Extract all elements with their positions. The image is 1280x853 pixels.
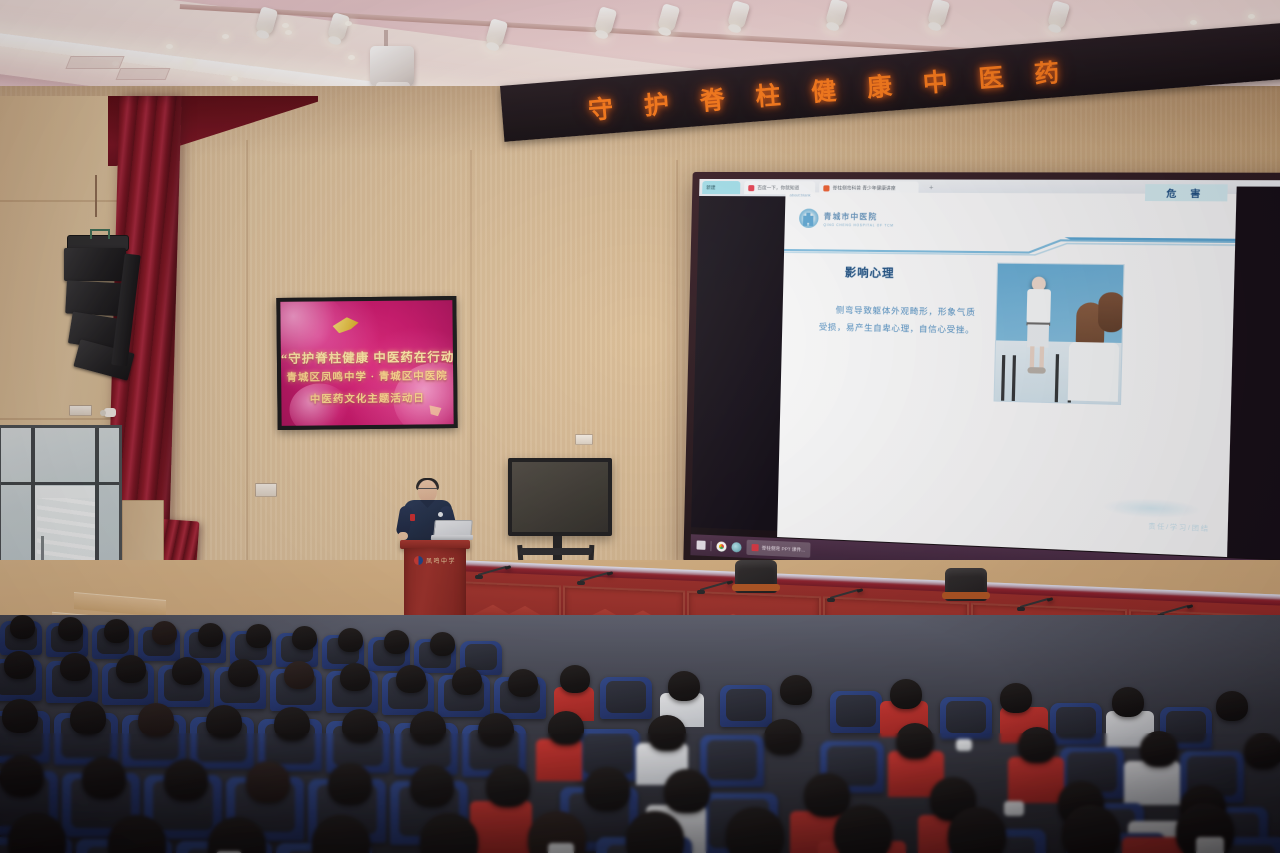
audience-head [206,705,242,739]
hospital-logo: 青城市中医院 QING CHENG HOSPITAL OF TCM [799,209,894,229]
ceiling-downlight [166,44,173,49]
ceiling-downlight [231,76,238,81]
school-emblem-icon [414,556,423,565]
photo-student-seated [1097,292,1123,356]
slide-photo [995,264,1124,404]
red-favicon [748,185,754,191]
chrome-icon[interactable] [716,541,726,551]
ceiling-downlight [348,55,355,60]
hospital-name-en: QING CHENG HOSPITAL OF TCM [823,222,893,227]
auditorium-seat[interactable] [700,735,764,787]
wall-socket-plate[interactable] [255,483,277,497]
pink-led-panel: “守护脊柱健康 中医药在行动” 青城区凤鸣中学 · 青城区中医院 中医药文化主题… [276,296,457,430]
audience-head [246,761,290,803]
taskbar-item-label: 脊柱侧弯 PPT 课件... [762,545,806,553]
audience-head [58,617,83,641]
taskbar-separator [710,541,711,551]
audience-head [410,765,454,807]
face-mask [548,843,574,853]
photo-student-standing [1025,276,1051,366]
podium-school-name: 凤鸣中学 [426,556,456,565]
hospital-logo-text: 青城市中医院 QING CHENG HOSPITAL OF TCM [823,210,894,227]
wall-horizontal-seam [0,418,124,420]
audience-head [664,769,710,813]
new-tab-button[interactable]: + [929,185,933,192]
face-mask [1196,837,1224,853]
speaker-hang-wire [95,175,97,217]
audience-head [648,715,686,751]
audience-head [1112,687,1144,717]
auditorium-seat[interactable] [720,685,772,727]
track-spotlight [727,0,751,30]
hospital-name-cn: 青城市中医院 [824,210,895,222]
audience-head [430,632,455,656]
photo-leg [1039,346,1044,369]
auditorium-seat[interactable] [830,691,882,733]
audience-head [396,665,426,693]
chair-armrest [732,584,780,591]
conference-chair[interactable] [945,568,987,612]
gooseneck-microphone [700,589,703,592]
track-spotlight [927,0,951,28]
ceiling-downlight [186,60,193,65]
main-projection-screen: 新建 百度一下，你就知道 脊柱侧弯科普 青少年健康讲座 + [683,172,1280,593]
presenter-lanyard [410,514,415,521]
ceiling-downlight [222,34,229,39]
student-audience [0,615,1280,853]
wall-panel-seam [676,160,678,560]
audience-head [328,763,372,805]
audience-head [172,657,202,685]
led-panel-content: “守护脊柱健康 中医药在行动” 青城区凤鸣中学 · 青城区中医院 中医药文化主题… [280,300,453,426]
face-mask [956,739,972,751]
audience-uniform [1124,761,1180,805]
hospital-emblem-icon [799,209,819,228]
line-array-speaker [62,248,139,370]
audience-head [780,675,812,705]
audience-head [890,679,922,709]
audience-head [2,699,38,733]
auditorium-seat[interactable] [940,697,992,739]
slide-body-text: 侧弯导致躯体外观畸形，形象气质受损，易产生自卑心理，自信心受挫。 [819,302,976,339]
track-spotlight [825,0,849,28]
audience-head [292,626,317,650]
ceiling-downlight [285,30,292,35]
auditorium-seat[interactable] [1050,703,1102,745]
ceiling-downlight [282,23,289,28]
wall-socket-plate[interactable] [575,434,593,445]
audience-head [70,701,106,735]
ribbon-svg [784,233,1235,258]
audience-head [410,711,446,745]
audience-head [198,623,223,647]
audience-head [1000,683,1032,713]
audience-head [834,805,892,853]
orange-favicon [823,185,829,191]
photo-shoes [1027,367,1045,374]
slide-section-badge: 危 害 [1145,184,1228,201]
audience-head [1140,731,1178,767]
auditorium-seat[interactable] [600,677,652,719]
audience-head [764,719,802,755]
ceiling-downlight [345,21,352,26]
photo-leg [1030,346,1035,369]
audience-head [284,661,314,689]
audience-head [478,713,514,747]
audience-head [338,628,363,652]
door-transom [1,482,119,485]
audience-head [1062,805,1120,853]
presenter-laptop[interactable] [432,520,472,542]
audience-head [342,709,378,743]
audience-head [508,669,538,697]
interactive-flat-panel[interactable] [508,458,612,536]
audience-head [804,773,850,817]
audience-uniform [1008,757,1064,803]
audience-head [584,767,630,811]
browser-tab-label: 百度一下，你就知道 [757,185,799,191]
wall-security-camera [104,408,116,417]
ceiling-downlight [1190,20,1197,25]
photo-shorts [1027,324,1049,347]
slide-footer-text: 责任/学习/团结 [1148,520,1210,533]
audience-uniform [470,801,532,853]
wall-horizontal-seam [0,200,124,202]
letterbox-left [691,196,785,531]
led-panel-line-1: “守护脊柱健康 中医药在行动” [281,346,453,367]
gooseneck-microphone [580,580,583,583]
audience-head [896,723,934,759]
wall-access-panel [69,405,92,416]
wps-icon [751,544,758,551]
flat-panel-screen [512,462,608,532]
track-spotlight [657,3,681,33]
taskbar-item-wps[interactable]: 脊柱侧弯 PPT 课件... [746,540,810,558]
audience-head [4,651,34,679]
audience-head [384,630,409,654]
audience-head [60,653,90,681]
slide-heading: 影响心理 [845,264,895,281]
audience-head [340,663,370,691]
tv-stand-shelf [519,548,593,555]
audience-head [548,711,584,745]
browser-tab-label: 新建 [706,184,715,190]
presentation-slide: 青城市中医院 QING CHENG HOSPITAL OF TCM 影响心理 侧… [777,192,1236,557]
speaker-module [64,248,126,281]
audience-head [104,619,129,643]
chair-armrest [942,592,990,599]
ceiling-air-vent [116,68,171,80]
presenter-glasses [418,488,437,493]
wall-panel-seam [246,140,248,610]
audience-head [152,621,177,645]
browser-tab-active[interactable]: 新建 [702,181,740,194]
audience-head [1216,691,1248,721]
auditorium-photo-scene: “守护脊柱健康 中医药在行动” 青城区凤鸣中学 · 青城区中医院 中医药文化主题… [0,0,1280,853]
photo-hair [1098,292,1124,332]
browser-tab-label: 脊柱侧弯科普 青少年健康讲座 [833,185,896,191]
audience-head [486,765,530,807]
edge-icon[interactable] [731,542,741,553]
wall-panel-seam [470,150,472,570]
audience-head [116,655,146,683]
audience-head [1018,727,1056,763]
photo-shirt [1026,289,1051,324]
audience-head [0,755,44,797]
projector-body [370,46,414,86]
slide-watermark [1102,497,1202,520]
ceiling-air-vent [65,56,124,69]
led-panel-line-2: 青城区凤鸣中学 · 青城区中医院 [281,368,453,385]
presenter-shirt-logo [438,512,443,517]
audience-head [164,759,208,801]
audience-head [228,659,258,687]
ceiling-downlight [1248,14,1255,19]
gooseneck-microphone [830,597,833,600]
gooseneck-microphone [478,574,481,577]
face-mask [1004,801,1024,816]
audience-head [452,667,482,695]
browser-url-text[interactable]: about:blank [785,192,909,202]
audience-head [668,671,700,701]
audience-head [246,624,271,648]
audience-head [274,707,310,741]
audience-head [560,665,590,693]
gooseneck-microphone [1020,606,1023,609]
audience-head [138,703,174,737]
conference-chair[interactable] [735,560,777,604]
presenter-hand [398,532,408,540]
led-panel-line-3: 中医药文化主题活动日 [281,390,453,407]
start-button-icon[interactable] [696,540,705,549]
track-spotlight [1047,0,1071,30]
audience-head [82,757,126,799]
slide-ribbon-decoration [784,233,1235,258]
podium-nameplate: 凤鸣中学 [408,554,462,566]
screen-surface: 新建 百度一下，你就知道 脊柱侧弯科普 青少年健康讲座 + [690,179,1280,585]
audience-uniform [536,739,582,781]
stage-step [74,592,166,617]
audience-head [1244,733,1280,769]
audience-head [10,615,35,639]
